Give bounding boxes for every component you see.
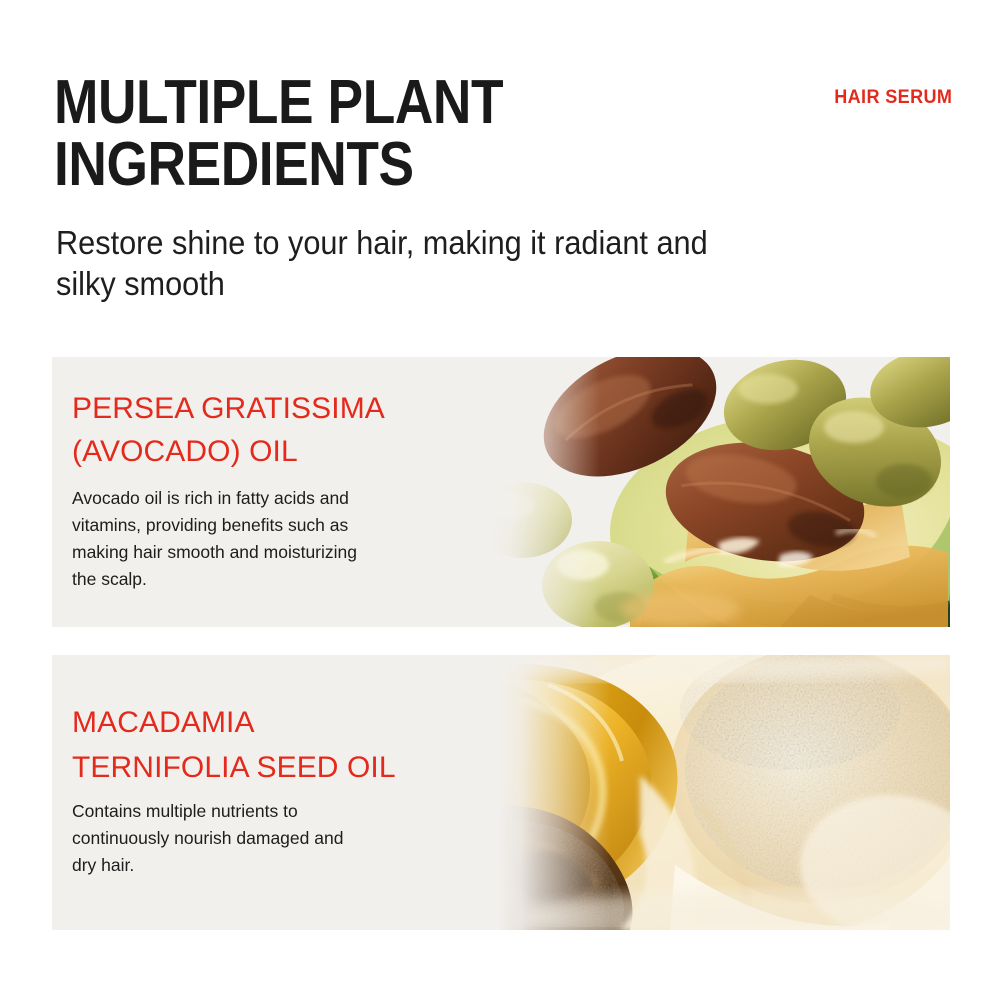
ingredient-description-avocado: Avocado oil is rich in fatty acids and v… [72, 485, 502, 593]
macadamia-nut-oil-photo [490, 655, 950, 930]
avocado-card-text: PERSEA GRATISSIMA (AVOCADO) OIL Avocado … [72, 357, 522, 627]
ingredient-title-avocado: PERSEA GRATISSIMA (AVOCADO) OIL [72, 387, 385, 473]
product-ingredient-infographic: MULTIPLE PLANT INGREDIENTS HAIR SERUM Re… [0, 0, 1000, 1000]
page-subtitle: Restore shine to your hair, making it ra… [56, 222, 921, 304]
ingredient-card-macadamia: MACADAMIA TERNIFOLIA SEED OIL Contains m… [52, 655, 950, 930]
page-title: MULTIPLE PLANT INGREDIENTS [54, 72, 656, 196]
ingredient-description-macadamia: Contains multiple nutrients to continuou… [72, 798, 492, 879]
header-section: MULTIPLE PLANT INGREDIENTS HAIR SERUM Re… [0, 0, 1000, 357]
avocado-seeds-oil-photo [480, 357, 950, 627]
macadamia-card-text: MACADAMIA TERNIFOLIA SEED OIL Contains m… [72, 655, 522, 930]
product-category-label: HAIR SERUM [834, 87, 952, 109]
ingredient-title-macadamia: MACADAMIA TERNIFOLIA SEED OIL [72, 700, 396, 790]
ingredient-card-avocado: PERSEA GRATISSIMA (AVOCADO) OIL Avocado … [52, 357, 950, 627]
